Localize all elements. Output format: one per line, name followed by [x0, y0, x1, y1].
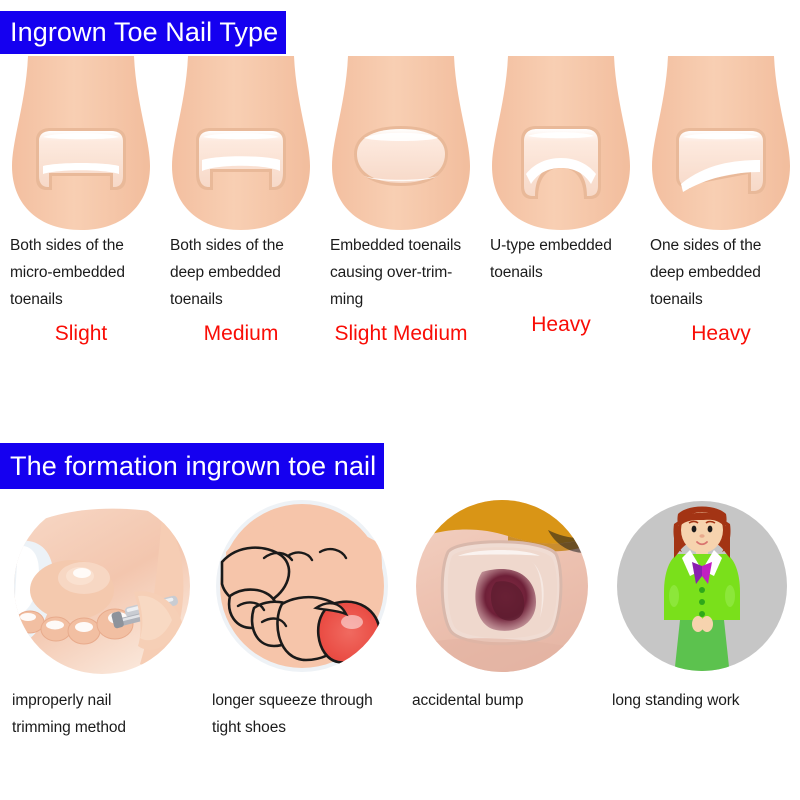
desc-line: tight shoes: [212, 714, 390, 741]
formation-cause-description-3: accidental bump: [412, 687, 590, 714]
desc-line: micro-embedded: [10, 259, 152, 286]
section-banner-ingrown-toe-nail-type: Ingrown Toe Nail Type: [0, 11, 286, 54]
desc-line: ming: [330, 286, 472, 313]
desc-line: deep embedded: [170, 259, 312, 286]
photo-nail-clipper-trimming: [12, 496, 192, 681]
toenail-both-sides-deep-embedded-illustration: [170, 56, 312, 231]
severity-label-1: Slight: [10, 322, 152, 346]
severity-label-2: Medium: [170, 322, 312, 346]
desc-line: long standing work: [612, 687, 790, 714]
formation-cause-row: improperly nail trimming method: [0, 496, 800, 741]
desc-line: U-type embedded: [490, 232, 632, 259]
toe-type-card-1: Both sides of the micro-embedded toenail…: [0, 56, 160, 352]
formation-cause-description-1: improperly nail trimming method: [12, 687, 190, 741]
toe-type-row: Both sides of the micro-embedded toenail…: [0, 56, 800, 352]
formation-cause-description-2: longer squeeze through tight shoes: [212, 687, 390, 741]
ingrown-toe-nail-type-section: Both sides of the micro-embedded toenail…: [0, 56, 800, 386]
severity-label-4: Heavy: [490, 313, 632, 337]
desc-line: toenails: [650, 286, 792, 313]
formation-cause-card-4: long standing work: [600, 496, 800, 741]
toe-type-description-3: Embedded toenails causing over-trim- min…: [330, 232, 472, 313]
desc-line: Both sides of the: [10, 232, 152, 259]
desc-line: trimming method: [12, 714, 190, 741]
formation-cause-card-2: longer squeeze through tight shoes: [200, 496, 400, 741]
toenail-one-side-deep-embedded-illustration: [650, 56, 792, 231]
illustration-toes-squeezed-tight-shoes: [212, 496, 392, 681]
section-banner-formation-ingrown-toe-nail: The formation ingrown toe nail: [0, 443, 384, 489]
toe-type-description-2: Both sides of the deep embedded toenails: [170, 232, 312, 313]
desc-line: Embedded toenails: [330, 232, 472, 259]
desc-line: longer squeeze through: [212, 687, 390, 714]
toe-type-description-5: One sides of the deep embedded toenails: [650, 232, 792, 313]
formation-cause-card-1: improperly nail trimming method: [0, 496, 200, 741]
severity-label-3: Slight Medium: [330, 322, 472, 346]
toe-type-card-3: Embedded toenails causing over-trim- min…: [320, 56, 480, 352]
desc-line: toenails: [490, 259, 632, 286]
formation-cause-description-4: long standing work: [612, 687, 790, 714]
toenail-u-type-embedded-illustration: [490, 56, 632, 231]
toe-type-card-5: One sides of the deep embedded toenails …: [640, 56, 800, 352]
desc-line: improperly nail: [12, 687, 190, 714]
toenail-both-sides-micro-embedded-illustration: [10, 56, 152, 231]
desc-line: deep embedded: [650, 259, 792, 286]
desc-line: toenails: [10, 286, 152, 313]
toe-type-description-1: Both sides of the micro-embedded toenail…: [10, 232, 152, 313]
toe-type-description-4: U-type embedded toenails: [490, 232, 632, 286]
desc-line: One sides of the: [650, 232, 792, 259]
desc-line: causing over-trim-: [330, 259, 472, 286]
illustration-woman-standing-at-work: [612, 496, 792, 681]
formation-cause-card-3: accidental bump: [400, 496, 600, 741]
toe-type-card-4: U-type embedded toenails Heavy: [480, 56, 640, 352]
desc-line: toenails: [170, 286, 312, 313]
photo-bruised-toenail-hematoma: [412, 496, 592, 681]
desc-line: Both sides of the: [170, 232, 312, 259]
formation-ingrown-toe-nail-section: improperly nail trimming method: [0, 496, 800, 796]
desc-line: accidental bump: [412, 687, 590, 714]
toenail-over-trimmed-oval-illustration: [330, 56, 472, 231]
severity-label-5: Heavy: [650, 322, 792, 346]
toe-type-card-2: Both sides of the deep embedded toenails…: [160, 56, 320, 352]
